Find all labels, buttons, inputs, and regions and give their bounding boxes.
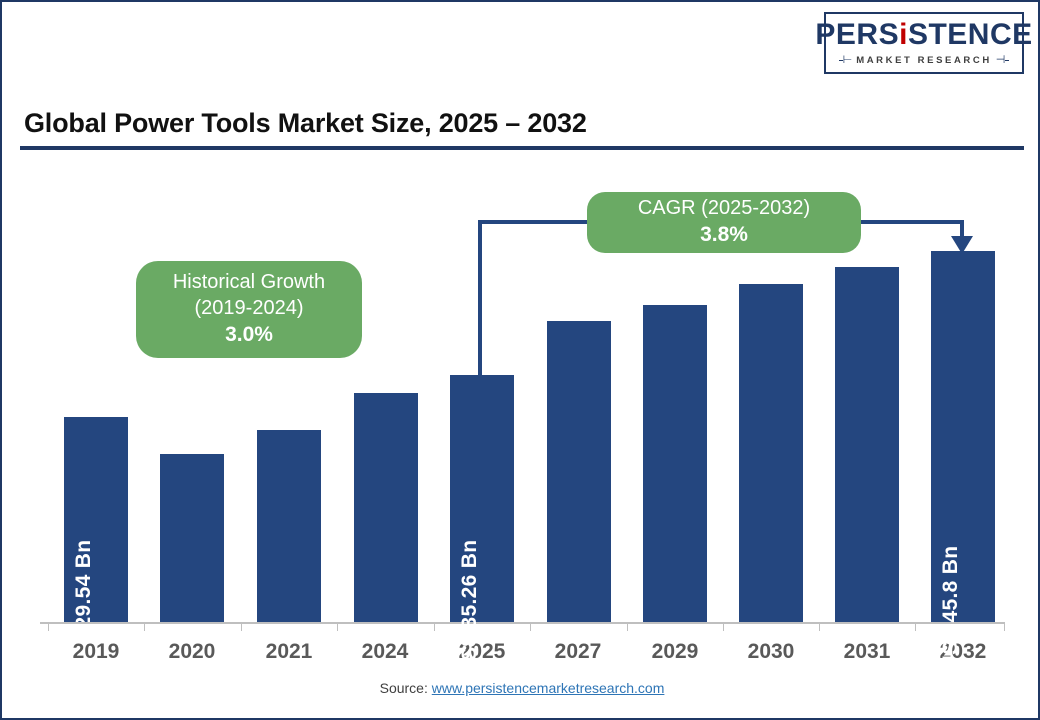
x-axis-tick [337,622,338,631]
x-axis-tick [1004,622,1005,631]
x-axis-line [40,622,1005,624]
x-axis-tick [530,622,531,631]
bar-2029[interactable] [643,305,707,622]
x-axis-tick [819,622,820,631]
bar-value-label-2032: US$ 45.8 Bn [939,546,963,671]
bar-chart-plot-area: US$ 29.54 Bn US$ 35.26 Bn US$ 45.8 Bn 20… [2,2,1040,720]
bar-value-label-2025: US$ 35.26 Bn [458,540,482,677]
bar-2031[interactable] [835,267,899,622]
x-axis-tick [627,622,628,631]
cagr-callout: CAGR (2025-2032) 3.8% [587,192,861,253]
x-axis-label-2031: 2031 [819,640,915,664]
x-axis-tick [48,622,49,631]
x-axis-label-2024: 2024 [337,640,433,664]
historical-growth-value: 3.0% [225,322,273,349]
bar-2024[interactable] [354,393,418,622]
x-axis-label-2027: 2027 [530,640,626,664]
source-prefix: Source: [380,680,432,696]
cagr-value: 3.8% [700,222,748,249]
historical-growth-line1: Historical Growth [173,270,325,296]
x-axis-label-2021: 2021 [241,640,337,664]
historical-growth-line2: (2019-2024) [195,296,304,322]
x-axis-label-2032: 2032 [915,640,1011,664]
x-axis-label-2029: 2029 [627,640,723,664]
bar-2019[interactable]: US$ 29.54 Bn [64,417,128,622]
x-axis-tick [144,622,145,631]
x-axis-tick [241,622,242,631]
cagr-line1: CAGR (2025-2032) [638,196,810,222]
bar-2020[interactable] [160,454,224,622]
x-axis-label-2025: 2025 [434,640,530,664]
bar-2021[interactable] [257,430,321,622]
bar-2027[interactable] [547,321,611,622]
source-link[interactable]: www.persistencemarketresearch.com [432,680,665,696]
x-axis-tick [723,622,724,631]
bar-2030[interactable] [739,284,803,622]
x-axis-tick [915,622,916,631]
bar-2025[interactable]: US$ 35.26 Bn [450,375,514,622]
x-axis-tick [434,622,435,631]
chart-page: PERSiSTENCE ⊢ MARKET RESEARCH ⊣ Global P… [0,0,1040,720]
source-line: Source: www.persistencemarketresearch.co… [2,680,1040,696]
bar-2032[interactable]: US$ 45.8 Bn [931,251,995,622]
x-axis-label-2019: 2019 [48,640,144,664]
x-axis-label-2030: 2030 [723,640,819,664]
x-axis-label-2020: 2020 [144,640,240,664]
historical-growth-callout: Historical Growth (2019-2024) 3.0% [136,261,362,358]
